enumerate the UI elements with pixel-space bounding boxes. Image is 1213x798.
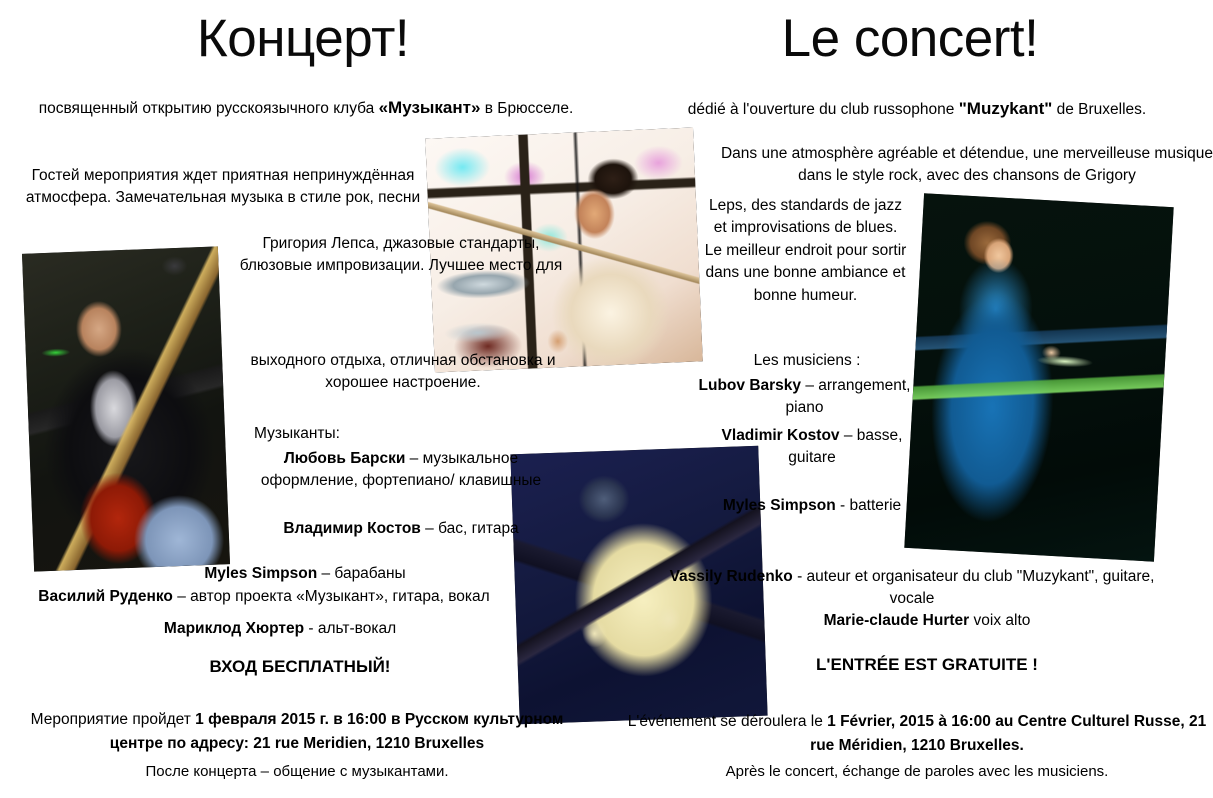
- russian-musician-2-role: – бас, гитара: [421, 520, 519, 537]
- french-musician-3-role: - batterie: [836, 497, 901, 514]
- french-subtitle: dédié à l'ouverture du club russophone "…: [627, 96, 1207, 122]
- french-musicians-heading: Les musiciens :: [707, 352, 907, 370]
- russian-after-concert: После концерта – общение с музыкантами.: [12, 763, 582, 780]
- french-free-entry: L'ENTRÉE EST GRATUITE !: [707, 655, 1147, 675]
- russian-musician-4-role: – автор проекта «Музыкант», гитара, вока…: [173, 588, 490, 605]
- russian-subtitle-club-name: «Музыкант»: [379, 98, 481, 117]
- concert-poster: Концерт! посвященный открытию русскоязыч…: [0, 0, 1213, 798]
- russian-paragraph-2: Григория Лепса, джазовые стандарты, блюз…: [236, 233, 566, 278]
- russian-paragraph-1: Гостей мероприятия ждет приятная неприну…: [6, 165, 440, 210]
- russian-musician-5-role: - альт-вокал: [304, 620, 396, 637]
- french-musician-1-name: Lubov Barsky: [699, 377, 802, 394]
- french-musician-1: Lubov Barsky – arrangement, piano: [697, 375, 912, 420]
- russian-subtitle-part2: в Брюсселе.: [480, 100, 573, 117]
- french-musician-4: Vassily Rudenko - auteur et organisateur…: [647, 566, 1177, 611]
- french-musician-5-role: voix alto: [969, 612, 1030, 629]
- russian-paragraph-3: выходного отдыха, отличная обстановка и …: [236, 350, 570, 395]
- french-paragraph-2: Leps, des standards de jazz et improvisa…: [703, 195, 908, 307]
- french-musician-4-name: Vassily Rudenko: [670, 568, 793, 585]
- french-paragraph-1: Dans une atmosphère agréable et détendue…: [717, 143, 1213, 188]
- french-after-concert: Après le concert, échange de paroles ave…: [627, 763, 1207, 780]
- russian-musician-4: Василий Руденко – автор проекта «Музыкан…: [0, 588, 528, 606]
- russian-title: Концерт!: [0, 12, 606, 65]
- french-subtitle-club-name: "Muzykant": [959, 99, 1053, 118]
- russian-event-details-prefix: Мероприятие пройдет: [31, 711, 196, 728]
- french-musician-4-role: - auteur et organisateur du club "Muzyka…: [793, 568, 1155, 607]
- russian-musician-4-name: Василий Руденко: [38, 588, 173, 605]
- russian-subtitle: посвященный открытию русскоязычного клуб…: [36, 95, 576, 121]
- russian-subtitle-part1: посвященный открытию русскоязычного клуб…: [39, 100, 379, 117]
- russian-musician-3: Myles Simpson – барабаны: [60, 565, 550, 583]
- russian-musician-3-name: Myles Simpson: [204, 565, 317, 582]
- french-subtitle-part1: dédié à l'ouverture du club russophone: [688, 101, 959, 118]
- french-event-details-prefix: L'événement se déroulera le: [628, 713, 827, 730]
- french-musician-3: Myles Simpson - batterie: [717, 495, 907, 517]
- french-musician-5-name: Marie-claude Hurter: [824, 612, 970, 629]
- russian-column: Концерт! посвященный открытию русскоязыч…: [0, 0, 606, 798]
- french-event-details-bold: 1 Février, 2015 à 16:00 au Centre Cultur…: [810, 713, 1206, 754]
- russian-event-details: Мероприятие пройдет 1 февраля 2015 г. в …: [12, 708, 582, 756]
- french-title: Le concert!: [607, 12, 1213, 65]
- french-musician-1-role: – arrangement, piano: [786, 377, 911, 416]
- french-musician-3-name: Myles Simpson: [723, 497, 836, 514]
- french-event-details: L'événement se déroulera le 1 Février, 2…: [627, 710, 1207, 758]
- russian-free-entry: ВХОД БЕСПЛАТНЫЙ!: [60, 657, 540, 677]
- russian-musician-2-name: Владимир Костов: [283, 520, 421, 537]
- russian-musician-1: Любовь Барски – музыкальное оформление, …: [236, 448, 566, 493]
- french-musician-2: Vladimir Kostov – basse, guitare: [717, 425, 907, 470]
- russian-musician-5: Мариклод Хюртер - альт-вокал: [40, 620, 520, 638]
- russian-musicians-heading: Музыканты:: [254, 425, 574, 443]
- russian-musician-5-name: Мариклод Хюртер: [164, 620, 304, 637]
- french-musician-5: Marie-claude Hurter voix alto: [707, 612, 1147, 630]
- french-column: Le concert! dédié à l'ouverture du club …: [607, 0, 1213, 798]
- french-musician-2-name: Vladimir Kostov: [722, 427, 840, 444]
- french-subtitle-part2: de Bruxelles.: [1052, 101, 1146, 118]
- russian-musician-2: Владимир Костов – бас, гитара: [236, 518, 566, 540]
- russian-musician-1-name: Любовь Барски: [284, 450, 405, 467]
- russian-musician-3-role: – барабаны: [317, 565, 405, 582]
